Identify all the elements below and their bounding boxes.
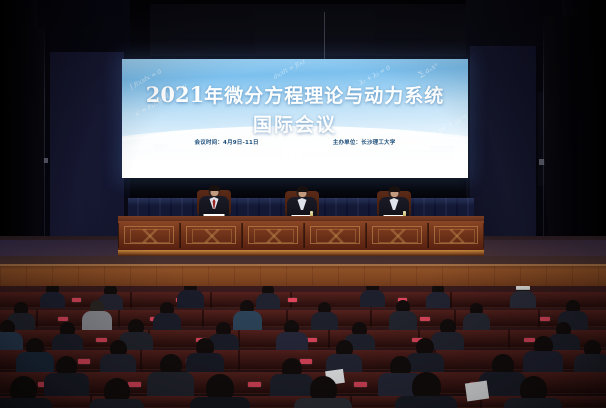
- podium-diamond-panel: [124, 226, 174, 244]
- panelist-head: [389, 187, 400, 198]
- seat-number-tag: [300, 359, 312, 364]
- led-screen-surface: ∫ f(x)dx = 0 ∂u/∂t = Δu x' = F(t,x) dx/d…: [122, 59, 468, 178]
- handout-paper: [465, 381, 489, 402]
- ceiling-hanging-rod: [324, 12, 325, 60]
- podium-diamond-panel: [186, 226, 236, 244]
- seat-number-tag: [524, 338, 535, 342]
- stage-panel-left: [50, 52, 124, 237]
- formula-text: dx/dt = f(x): [272, 59, 307, 82]
- conference-date-text: 会议时间：4月9日-11日: [195, 138, 259, 146]
- panelist-head: [297, 187, 308, 198]
- seat-number-tag: [128, 382, 141, 387]
- conference-photo: ∫ f(x)dx = 0 ∂u/∂t = Δu x' = F(t,x) dx/d…: [0, 0, 606, 408]
- seat-number-tag: [72, 298, 81, 302]
- led-screen: ∫ f(x)dx = 0 ∂u/∂t = Δu x' = F(t,x) dx/d…: [122, 59, 468, 178]
- seat-number-tag: [78, 359, 90, 364]
- stage-curtain-right-inner: [544, 16, 578, 260]
- screen-title-block: 2021年微分方程理论与动力系统 国际会议: [122, 81, 468, 137]
- conference-title-text: 年微分方程理论与动力系统: [204, 85, 444, 107]
- conference-title-line2: 国际会议: [122, 110, 468, 137]
- screen-bottom-wash: [122, 144, 468, 178]
- podium-diamond-panel: [372, 226, 422, 244]
- panelist-hair: [297, 186, 308, 192]
- panelist-head: [209, 186, 220, 197]
- curtain-highlight-left: [44, 20, 45, 245]
- stage-panel-right: [470, 46, 542, 241]
- seat-number-tag: [58, 317, 68, 321]
- ceiling-beam-secondary: [255, 8, 375, 54]
- podium-diamond-panel: [434, 226, 478, 244]
- seat-number-tag: [354, 382, 367, 387]
- panelist-hair: [389, 186, 400, 192]
- stage-podium-table: [118, 216, 484, 256]
- podium-diamond-panel: [248, 226, 298, 244]
- seat-number-tag: [288, 298, 297, 302]
- conference-title-line1: 2021年微分方程理论与动力系统: [122, 81, 468, 108]
- screen-meta-row: 会议时间：4月9日-11日 主办单位：长沙理工大学: [122, 138, 468, 146]
- seat-number-tag: [540, 317, 550, 321]
- podium-base-trim: [118, 250, 484, 256]
- formula-text: ∑ aₙxⁿ: [417, 61, 440, 80]
- curtain-highlight-right: [543, 20, 544, 245]
- seat-number-tag: [248, 382, 261, 387]
- panelist-hair: [209, 185, 220, 191]
- podium-diamond-panel: [310, 226, 360, 244]
- conference-organizer-text: 主办单位：长沙理工大学: [333, 138, 396, 146]
- seat-number-tag: [96, 338, 107, 342]
- stage-curtain-left-inner: [18, 28, 44, 256]
- audience-area: [0, 286, 606, 408]
- conference-year: 2021: [146, 82, 204, 107]
- seat-number-tag: [420, 317, 430, 321]
